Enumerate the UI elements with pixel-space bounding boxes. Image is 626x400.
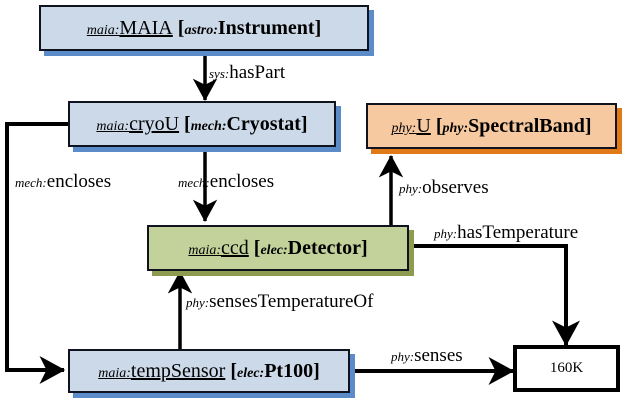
edge-label-senses-name: senses bbox=[414, 345, 463, 366]
edge-label-hastemperature-prefix: phy: bbox=[434, 226, 457, 241]
node-cryou-open-bracket: [ bbox=[184, 113, 191, 135]
edge-label-sensestemperatureof: phy:sensesTemperatureOf bbox=[186, 292, 373, 311]
node-tempsensor[interactable]: maia:tempSensor [elec:Pt100] bbox=[68, 349, 350, 393]
node-ccd-type-prefix: elec: bbox=[260, 243, 287, 258]
node-phyu-type-name: SpectralBand bbox=[468, 115, 585, 137]
edge-label-encloses-tempsensor-prefix: mech: bbox=[15, 175, 47, 190]
edge-label-encloses-tempsensor-name: encloses bbox=[47, 171, 111, 192]
node-tempsensor-type-name: Pt100 bbox=[264, 360, 313, 382]
edge-layer bbox=[0, 0, 626, 400]
node-ccd-type-name: Detector bbox=[288, 237, 361, 259]
node-maia-instance-prefix: maia: bbox=[87, 23, 120, 38]
node-phyu-close-bracket: ] bbox=[585, 115, 592, 137]
node-tempsensor-type-prefix: elec: bbox=[237, 366, 264, 381]
node-tempsensor-close-bracket: ] bbox=[313, 360, 320, 382]
node-phyu-instance-prefix: phy: bbox=[391, 121, 416, 136]
node-tempsensor-label: maia:tempSensor [elec:Pt100] bbox=[98, 361, 320, 381]
edge-label-senses: phy:senses bbox=[391, 346, 463, 365]
node-cryou-label: maia:cryoU [mech:Cryostat] bbox=[96, 114, 307, 134]
node-cryou-type-name: Cryostat bbox=[226, 113, 300, 135]
edge-label-haspart: sys:hasPart bbox=[209, 63, 285, 82]
edge-label-encloses-tempsensor: mech:encloses bbox=[15, 172, 111, 191]
node-phyu-label: phy:U [phy:SpectralBand] bbox=[391, 116, 591, 136]
edge-label-sensestemperatureof-prefix: phy: bbox=[186, 295, 209, 310]
node-ccd[interactable]: maia:ccd [elec:Detector] bbox=[147, 225, 409, 271]
edge-label-observes-prefix: phy: bbox=[399, 181, 422, 196]
node-phyu-type-prefix: phy: bbox=[442, 121, 468, 136]
edge-label-encloses-ccd-name: encloses bbox=[210, 171, 274, 192]
edge-label-haspart-name: hasPart bbox=[229, 62, 285, 83]
node-cryou-instance-name: cryoU bbox=[129, 113, 179, 135]
node-maia[interactable]: maia:MAIA [astro:Instrument] bbox=[39, 5, 369, 51]
edge-label-encloses-ccd: mech:encloses bbox=[178, 172, 274, 191]
node-ccd-label: maia:ccd [elec:Detector] bbox=[188, 238, 367, 258]
ontology-diagram: maia:MAIA [astro:Instrument] maia:cryoU … bbox=[0, 0, 626, 400]
node-phyu[interactable]: phy:U [phy:SpectralBand] bbox=[366, 103, 617, 149]
node-cryou[interactable]: maia:cryoU [mech:Cryostat] bbox=[68, 101, 336, 147]
node-temp-value[interactable]: 160K bbox=[513, 345, 620, 392]
node-temp-value-label: 160K bbox=[550, 360, 583, 377]
node-tempsensor-instance-name: tempSensor bbox=[131, 360, 225, 382]
edge-label-hastemperature: phy:hasTemperature bbox=[434, 223, 578, 242]
edge-label-senses-prefix: phy: bbox=[391, 349, 414, 364]
edge-label-encloses-ccd-prefix: mech: bbox=[178, 175, 210, 190]
edge-label-haspart-prefix: sys: bbox=[209, 66, 229, 81]
node-ccd-close-bracket: ] bbox=[361, 237, 368, 259]
edge-label-hastemperature-name: hasTemperature bbox=[457, 222, 578, 243]
node-cryou-instance-prefix: maia: bbox=[96, 119, 129, 134]
edge-encloses-tempsensor bbox=[7, 124, 68, 370]
node-maia-label: maia:MAIA [astro:Instrument] bbox=[87, 18, 321, 38]
node-maia-type-prefix: astro: bbox=[184, 23, 217, 38]
node-cryou-close-bracket: ] bbox=[301, 113, 308, 135]
node-phyu-instance-name: U bbox=[416, 115, 430, 137]
node-cryou-type-prefix: mech: bbox=[191, 119, 227, 134]
node-tempsensor-open-bracket: [ bbox=[230, 360, 237, 382]
node-maia-close-bracket: ] bbox=[315, 17, 322, 39]
edge-hastemperature bbox=[414, 246, 566, 345]
edge-label-observes-name: observes bbox=[422, 177, 488, 198]
node-ccd-instance-prefix: maia: bbox=[188, 243, 221, 258]
node-maia-instance-name: MAIA bbox=[119, 17, 172, 39]
edge-label-sensestemperatureof-name: sensesTemperatureOf bbox=[209, 291, 373, 312]
node-tempsensor-instance-prefix: maia: bbox=[98, 366, 131, 381]
node-maia-type-name: Instrument bbox=[218, 17, 315, 39]
node-ccd-instance-name: ccd bbox=[221, 237, 249, 259]
edge-label-observes: phy:observes bbox=[399, 178, 489, 197]
